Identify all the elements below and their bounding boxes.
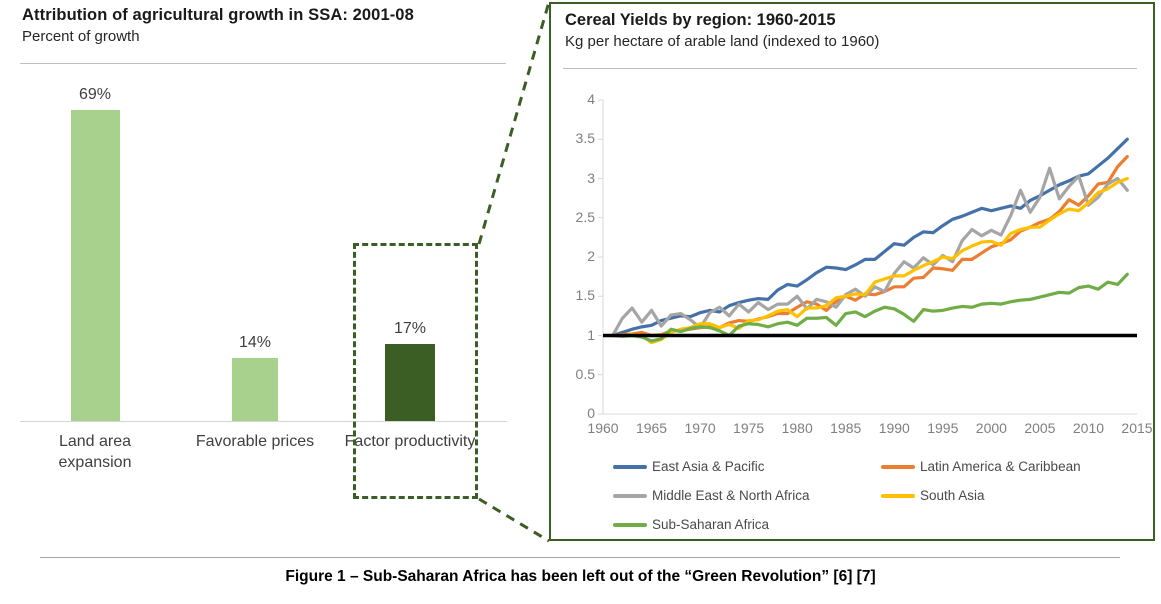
series-line-middle-east-north-africa [613, 168, 1128, 335]
chart-legend: East Asia & PacificLatin America & Carib… [613, 459, 1143, 539]
left-panel-subtitle: Percent of growth [22, 28, 140, 45]
figure-caption: Figure 1 – Sub-Saharan Africa has been l… [0, 568, 1161, 586]
legend-swatch-icon [881, 465, 915, 469]
figure-root: Attribution of agricultural growth in SS… [0, 0, 1161, 604]
legend-label: Middle East & North Africa [652, 488, 810, 503]
x-axis-tick-label: 2005 [1015, 420, 1065, 436]
right-panel-title: Cereal Yields by region: 1960-2015 [565, 11, 836, 30]
series-line-sub-saharan-africa [613, 274, 1128, 341]
legend-label: Sub-Saharan Africa [652, 517, 769, 532]
x-axis-tick-label: 1960 [578, 420, 628, 436]
legend-label: East Asia & Pacific [652, 459, 765, 474]
legend-item-east-asia-pacific[interactable]: East Asia & Pacific [613, 459, 765, 474]
x-axis-tick-label: 1995 [918, 420, 968, 436]
left-panel-divider [20, 63, 506, 64]
bar-value-label: 69% [50, 86, 140, 104]
y-axis-tick-label: 3.5 [561, 130, 595, 146]
y-axis-tick-label: 0 [561, 405, 595, 421]
legend-item-south-asia[interactable]: South Asia [881, 488, 985, 503]
x-axis-tick-label: 1965 [627, 420, 677, 436]
legend-item-latin-america-caribbean[interactable]: Latin America & Caribbean [881, 459, 1081, 474]
x-axis-tick-label: 1985 [821, 420, 871, 436]
legend-item-sub-saharan-africa[interactable]: Sub-Saharan Africa [613, 517, 769, 532]
legend-swatch-icon [613, 494, 647, 498]
right-panel-divider [563, 68, 1137, 69]
bar-category-label: Favorable prices [189, 431, 321, 452]
x-axis-tick-label: 1980 [772, 420, 822, 436]
line-chart-canvas [557, 90, 1149, 450]
y-axis-tick-label: 1 [561, 327, 595, 343]
bar-value-label: 14% [210, 334, 300, 352]
left-panel-title: Attribution of agricultural growth in SS… [22, 6, 414, 25]
y-axis-tick-label: 4 [561, 91, 595, 107]
right-panel-subtitle: Kg per hectare of arable land (indexed t… [565, 33, 879, 50]
legend-swatch-icon [613, 523, 647, 527]
x-axis-tick-label: 1970 [675, 420, 725, 436]
legend-item-middle-east-north-africa[interactable]: Middle East & North Africa [613, 488, 810, 503]
series-line-latin-america-caribbean [613, 157, 1128, 336]
y-axis-tick-label: 1.5 [561, 287, 595, 303]
y-axis-tick-label: 2.5 [561, 209, 595, 225]
legend-swatch-icon [881, 494, 915, 498]
x-axis-tick-label: 1990 [869, 420, 919, 436]
bar-favorable-prices [232, 358, 278, 421]
legend-swatch-icon [613, 465, 647, 469]
y-axis-tick-label: 0.5 [561, 366, 595, 382]
x-axis-tick-label: 1975 [724, 420, 774, 436]
x-axis-tick-label: 2000 [966, 420, 1016, 436]
y-axis-tick-label: 3 [561, 170, 595, 186]
legend-label: South Asia [920, 488, 985, 503]
x-axis-tick-label: 2015 [1112, 420, 1161, 436]
factor-productivity-callout-box [353, 243, 478, 499]
bar-land-area-expansion [71, 110, 120, 421]
caption-divider [40, 557, 1120, 558]
y-axis-tick-label: 2 [561, 248, 595, 264]
cereal-yields-panel: Cereal Yields by region: 1960-2015 Kg pe… [549, 2, 1155, 541]
x-axis-tick-label: 2010 [1063, 420, 1113, 436]
bar-category-label: Land area expansion [29, 431, 161, 473]
legend-label: Latin America & Caribbean [920, 459, 1081, 474]
cereal-yields-line-chart: 00.511.522.533.5419601965197019751980198… [557, 90, 1149, 450]
